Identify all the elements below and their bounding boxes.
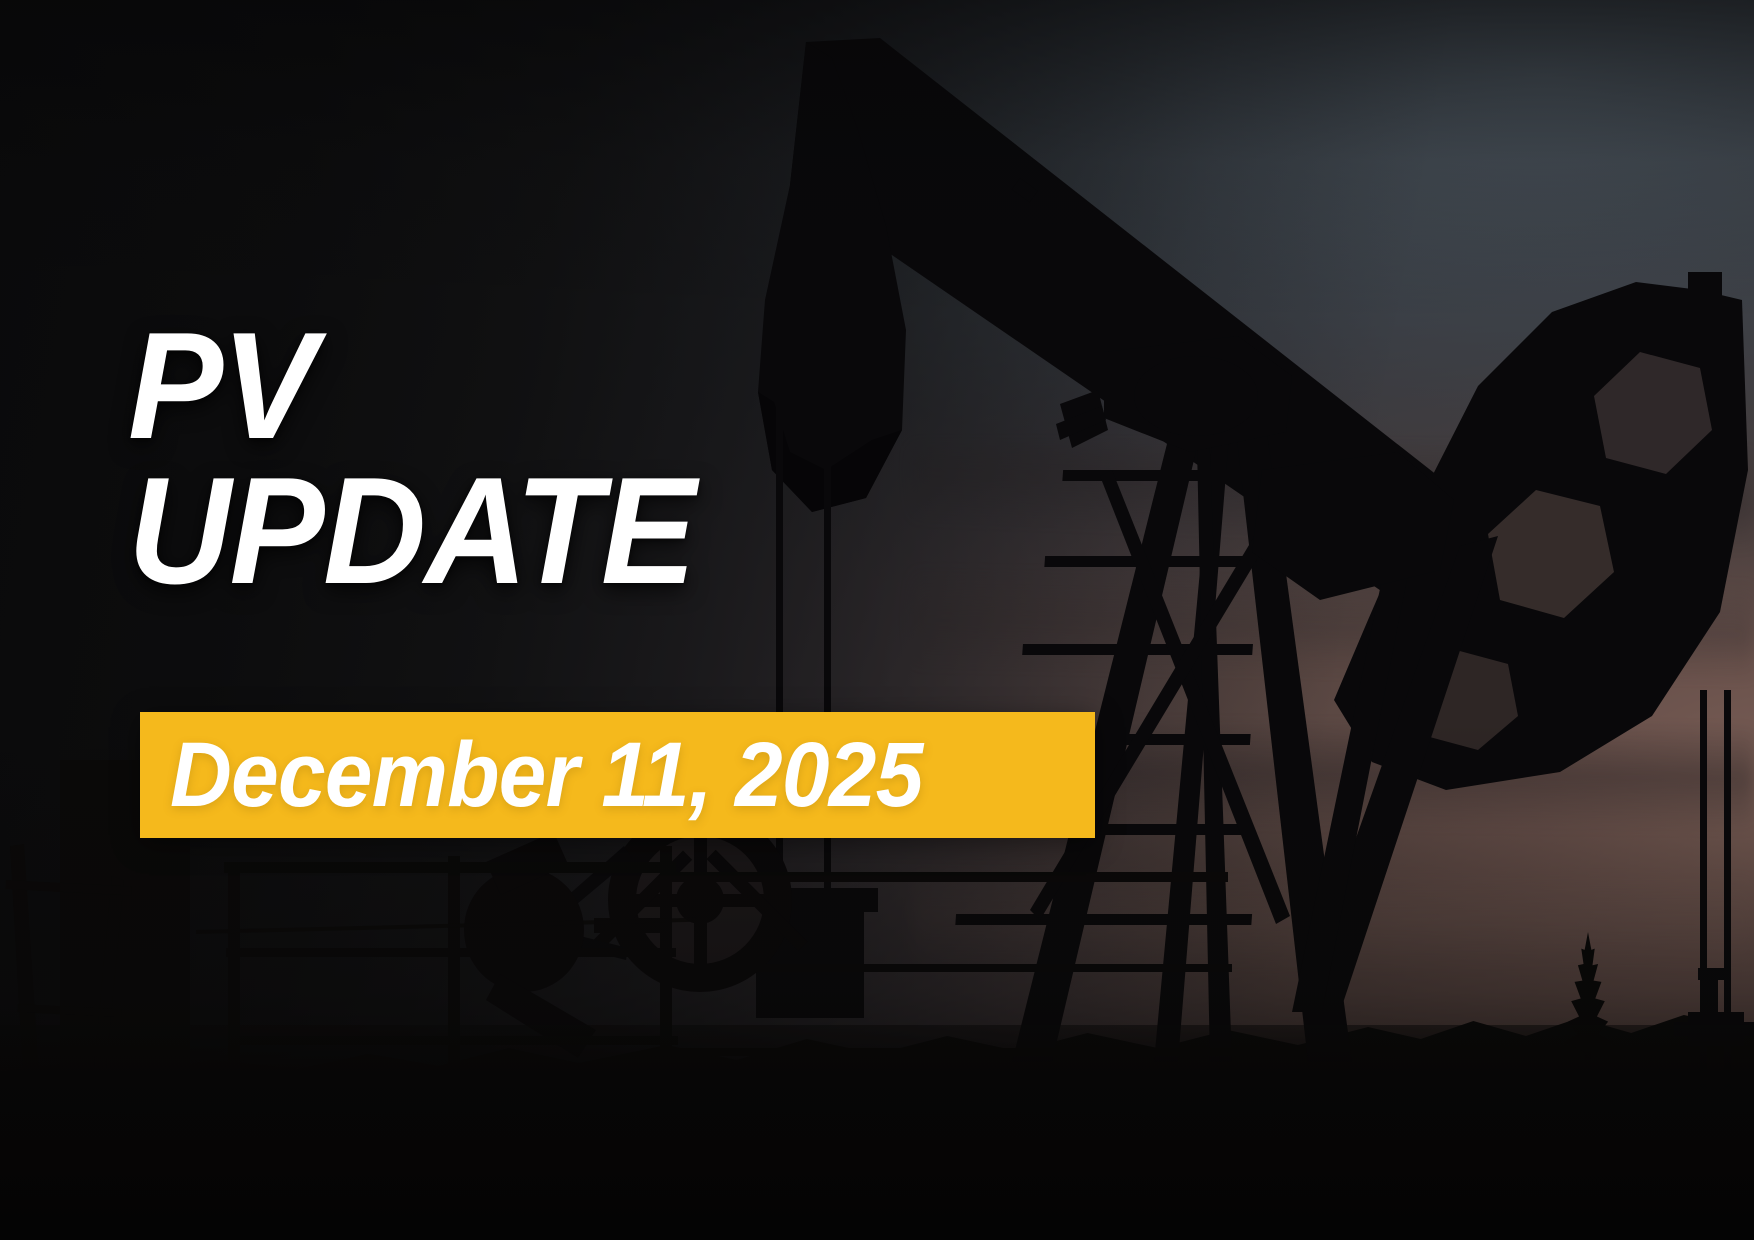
- hero-graphic: PV UPDATE December 11, 2025: [0, 0, 1754, 1240]
- global-vignette: [0, 0, 1754, 1240]
- date-label: December 11, 2025: [170, 729, 923, 821]
- date-banner: December 11, 2025: [140, 712, 1095, 838]
- headline-line-2: UPDATE: [128, 463, 1115, 600]
- background-photo: [0, 0, 1754, 1240]
- headline-line-1: PV: [128, 318, 1115, 455]
- headline-block: PV UPDATE: [128, 318, 1178, 600]
